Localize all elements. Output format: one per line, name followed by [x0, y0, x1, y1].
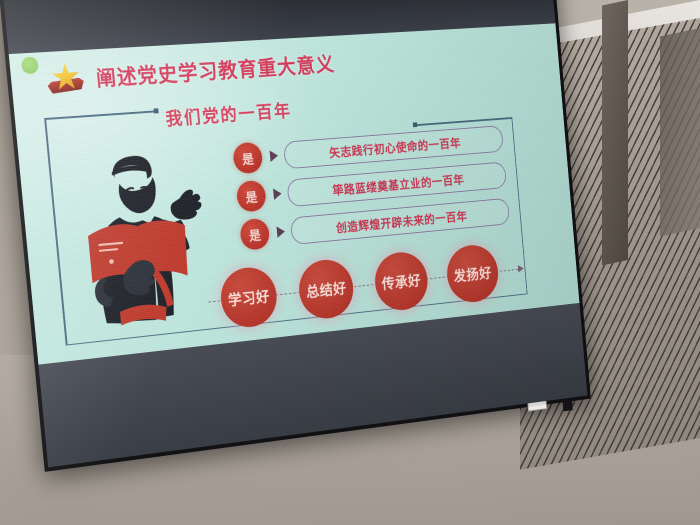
revolutionary-figure-illustration [68, 136, 225, 333]
screen-frame-foot [562, 399, 572, 411]
row-badge: 是 [236, 180, 267, 213]
wall-pillar [602, 0, 628, 266]
arrow-right-icon [276, 226, 285, 238]
slide-subtitle: 我们党的一百年 [164, 97, 292, 131]
arrow-right-icon [270, 150, 279, 162]
screen-surface: 阐述党史学习教育重大意义 我们党的一百年 [3, 0, 587, 467]
keyword-circle: 总结好 [297, 257, 356, 321]
row-badge: 是 [232, 142, 263, 175]
bracket-dot-right [413, 122, 418, 127]
keyword-circle: 发扬好 [445, 243, 501, 305]
statement-rows: 是 矢志践行初心使命的一百年 是 筚路蓝缕奠基立业的一百年 是 创造辉煌开辟未来… [232, 122, 511, 257]
slide-title: 阐述党史学习教育重大意义 [95, 49, 336, 93]
projection-screen: 阐述党史学习教育重大意义 我们党的一百年 [0, 0, 591, 472]
wall-pillar-secondary [660, 28, 700, 237]
photo-scene: 阐述党史学习教育重大意义 我们党的一百年 [0, 0, 700, 525]
row-badge: 是 [239, 218, 270, 251]
bracket-dot-left [154, 108, 159, 113]
arrow-right-icon [273, 188, 282, 200]
gold-star-ribbon-icon [45, 62, 86, 98]
green-dot-decoration [21, 56, 39, 74]
keyword-circle: 学习好 [218, 265, 279, 330]
keyword-circle: 传承好 [373, 250, 430, 313]
slide-title-row: 阐述党史学习教育重大意义 [45, 47, 336, 98]
dashed-connector-arrow-icon [518, 265, 524, 273]
